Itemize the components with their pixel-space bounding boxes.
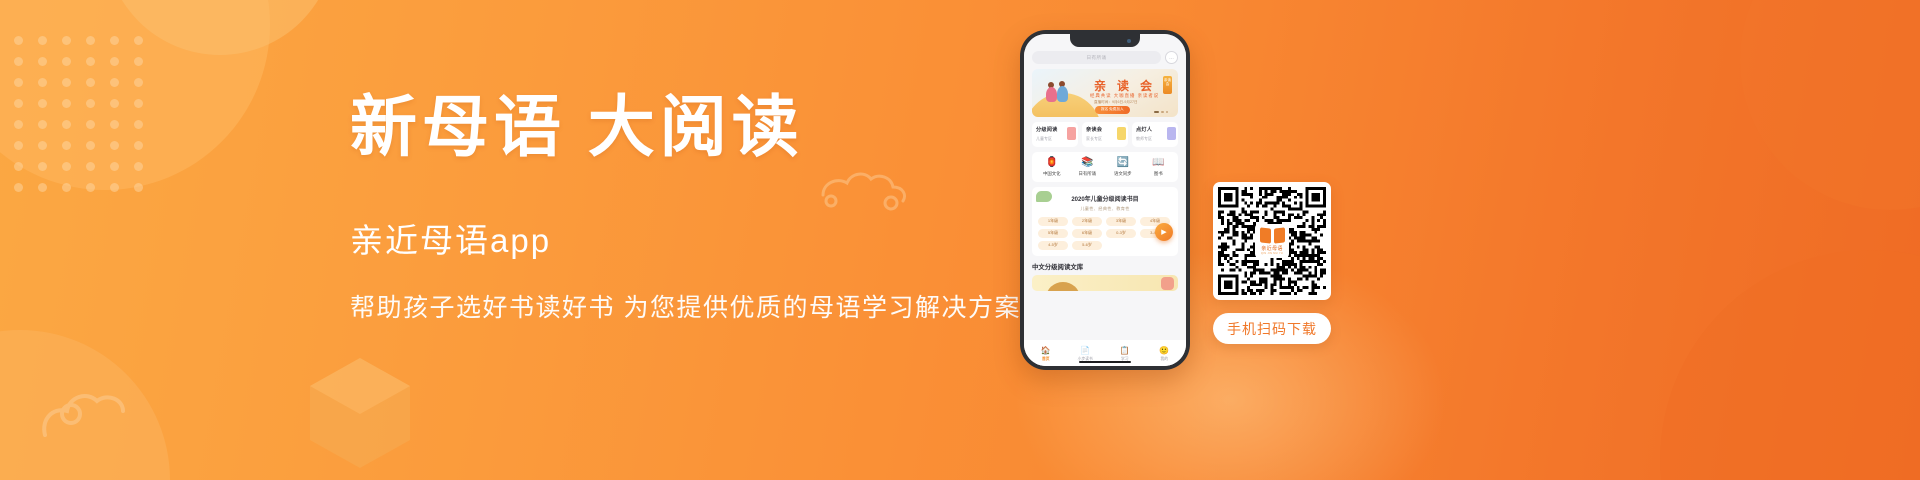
hero-subtitle: 经典共读 大咖直播 亲读者说 bbox=[1090, 93, 1159, 99]
decor-dot bbox=[110, 99, 119, 108]
open-book-icon bbox=[1260, 228, 1285, 243]
decor-dot bbox=[110, 120, 119, 129]
decor-dot bbox=[134, 36, 143, 45]
hero-child-1 bbox=[1046, 87, 1057, 102]
page-title: 新母语 大阅读 bbox=[350, 95, 1010, 162]
tab-icon: 🙂 bbox=[1145, 347, 1185, 355]
decor-dot bbox=[134, 78, 143, 87]
decor-dot-grid bbox=[14, 36, 164, 196]
decor-dot bbox=[38, 120, 47, 129]
promo-banner: 新母语 大阅读 亲近母语app 帮助孩子选好书读好书 为您提供优质的母语学习解决… bbox=[0, 0, 1920, 480]
decor-dot bbox=[110, 57, 119, 66]
phone-mockup: 日有所诵 … 亲 读 会 亲读会 经典共读 大咖直播 亲读者说 直播时间：9月6… bbox=[1020, 30, 1190, 370]
grade-tag[interactable]: 4-5岁 bbox=[1038, 241, 1068, 250]
decor-dot bbox=[86, 99, 95, 108]
decor-dot bbox=[62, 78, 71, 87]
decor-cloud-swirl-bottom-left bbox=[35, 340, 185, 450]
decor-circle-top-left bbox=[0, 0, 270, 190]
app-feature-china-culture-icon[interactable]: 🏮中国文化 bbox=[1034, 158, 1070, 177]
decor-dot bbox=[14, 57, 23, 66]
decor-dot bbox=[134, 141, 143, 150]
decor-dot bbox=[62, 141, 71, 150]
decor-dot bbox=[62, 57, 71, 66]
feature-label: 语文同步 bbox=[1105, 171, 1141, 177]
app-icon-row: 🏮中国文化📚日有所诵🔄语文同步📖图书 bbox=[1032, 152, 1178, 182]
decor-dot bbox=[134, 183, 143, 192]
phone-notch bbox=[1070, 34, 1140, 47]
daily-recite-icon: 📚 bbox=[1070, 158, 1106, 168]
decor-dot bbox=[62, 36, 71, 45]
decor-dot bbox=[86, 36, 95, 45]
tab-label: 我的 bbox=[1145, 357, 1185, 362]
decor-dot bbox=[110, 78, 119, 87]
decor-dot bbox=[86, 141, 95, 150]
decor-dot bbox=[38, 162, 47, 171]
hero-side-tag: 亲读会 bbox=[1163, 76, 1172, 94]
qr-logo-en: QIN JIN MU YU bbox=[1261, 252, 1283, 255]
category-card[interactable]: 点灯人教师专区 bbox=[1132, 122, 1178, 147]
decor-dot bbox=[14, 183, 23, 192]
app-hero-banner[interactable]: 亲 读 会 亲读会 经典共读 大咖直播 亲读者说 直播时间：9月6日-9月27日… bbox=[1032, 69, 1178, 117]
search-input[interactable]: 日有所诵 bbox=[1032, 51, 1161, 64]
front-camera-icon bbox=[1127, 39, 1131, 43]
decor-dot bbox=[14, 162, 23, 171]
decor-dot bbox=[86, 78, 95, 87]
decor-dot bbox=[38, 183, 47, 192]
decor-dot bbox=[134, 120, 143, 129]
qr-card: 亲近母语 QIN JIN MU YU bbox=[1213, 182, 1331, 300]
qr-center-logo: 亲近母语 QIN JIN MU YU bbox=[1255, 224, 1289, 258]
app-feature-daily-recite-icon[interactable]: 📚日有所诵 bbox=[1070, 158, 1106, 177]
decor-dot bbox=[110, 162, 119, 171]
decor-dot bbox=[62, 183, 71, 192]
app-search-row: 日有所诵 … bbox=[1032, 51, 1178, 64]
app-booklist-card[interactable]: 2020年儿童分级阅读书目 儿童性、经典性、教育性 1年级2年级3年级4年级5年… bbox=[1032, 187, 1178, 256]
decor-circle-bottom-right bbox=[1660, 250, 1920, 480]
decor-dot bbox=[14, 99, 23, 108]
card-decor bbox=[1067, 127, 1076, 140]
qr-code[interactable]: 亲近母语 QIN JIN MU YU bbox=[1218, 187, 1326, 295]
booklist-title: 2020年儿童分级阅读书目 bbox=[1038, 194, 1172, 203]
app-category-cards: 分级阅读儿童专区亲读会家长专区点灯人教师专区 bbox=[1032, 122, 1178, 147]
decor-dot bbox=[134, 57, 143, 66]
section-card-shape bbox=[1046, 282, 1080, 291]
tab-icon: 📋 bbox=[1105, 347, 1145, 355]
app-name: 亲近母语app bbox=[350, 214, 1010, 262]
decor-circle-bottom-left bbox=[0, 330, 170, 480]
section-card[interactable] bbox=[1032, 275, 1178, 291]
grade-tag[interactable]: 6年级 bbox=[1072, 229, 1102, 238]
hero-date: 直播时间：9月6日-9月27日 bbox=[1094, 100, 1138, 105]
decor-dot bbox=[110, 141, 119, 150]
category-card[interactable]: 分级阅读儿童专区 bbox=[1032, 122, 1078, 147]
banner-copy: 新母语 大阅读 亲近母语app 帮助孩子选好书读好书 为您提供优质的母语学习解决… bbox=[350, 95, 1010, 324]
decor-dot bbox=[86, 183, 95, 192]
china-culture-icon: 🏮 bbox=[1034, 158, 1070, 168]
grade-tag[interactable]: 3年级 bbox=[1106, 217, 1136, 226]
tab-首页[interactable]: 🏠首页 bbox=[1026, 347, 1066, 362]
card-decor bbox=[1117, 127, 1126, 140]
decor-dot bbox=[14, 78, 23, 87]
books-icon: 📖 bbox=[1141, 158, 1177, 168]
video-play-button[interactable]: ▶ bbox=[1155, 223, 1173, 241]
download-button[interactable]: 手机扫码下载 bbox=[1213, 313, 1331, 344]
decor-dot bbox=[134, 162, 143, 171]
grade-tag-list: 1年级2年级3年级4年级5年级6年级0-3岁3-4岁4-5岁5-6岁 bbox=[1038, 217, 1172, 250]
hero-child-2 bbox=[1057, 86, 1068, 102]
decor-circle-top-left-2 bbox=[105, 0, 335, 55]
grade-tag[interactable]: 2年级 bbox=[1072, 217, 1102, 226]
card-decor bbox=[1167, 127, 1176, 140]
decor-dot bbox=[14, 36, 23, 45]
section-card-thumb bbox=[1161, 277, 1174, 290]
qr-logo-name: 亲近母语 bbox=[1261, 245, 1283, 252]
decor-dot bbox=[38, 36, 47, 45]
decor-dot bbox=[86, 120, 95, 129]
feature-label: 中国文化 bbox=[1034, 171, 1070, 177]
hero-join-button[interactable]: 报名 免费加入 bbox=[1095, 106, 1130, 114]
section-title: 中文分级阅读文库 bbox=[1032, 262, 1178, 271]
grade-tag[interactable]: 5-6岁 bbox=[1072, 241, 1102, 250]
decor-dot bbox=[134, 99, 143, 108]
decor-dot bbox=[86, 162, 95, 171]
decor-dot bbox=[62, 120, 71, 129]
hero-title: 亲 读 会 bbox=[1094, 77, 1156, 94]
grade-tag[interactable]: 5年级 bbox=[1038, 229, 1068, 238]
leaf-icon bbox=[1036, 191, 1052, 202]
decor-dot bbox=[38, 78, 47, 87]
decor-dot bbox=[14, 141, 23, 150]
feature-label: 日有所诵 bbox=[1070, 171, 1106, 177]
phone-screen: 日有所诵 … 亲 读 会 亲读会 经典共读 大咖直播 亲读者说 直播时间：9月6… bbox=[1024, 34, 1186, 366]
tab-我的[interactable]: 🙂我的 bbox=[1145, 347, 1185, 362]
tab-icon: 🏠 bbox=[1026, 347, 1066, 355]
decor-dot bbox=[38, 57, 47, 66]
decor-dot bbox=[110, 183, 119, 192]
decor-cube bbox=[305, 348, 415, 468]
app-feature-chinese-sync-icon[interactable]: 🔄语文同步 bbox=[1105, 158, 1141, 177]
decor-dot bbox=[38, 141, 47, 150]
qr-download-block: 亲近母语 QIN JIN MU YU 手机扫码下载 bbox=[1213, 182, 1331, 344]
decor-dot bbox=[38, 99, 47, 108]
app-feature-books-icon[interactable]: 📖图书 bbox=[1141, 158, 1177, 177]
decor-dot bbox=[110, 36, 119, 45]
grade-tag[interactable]: 1年级 bbox=[1038, 217, 1068, 226]
decor-dot bbox=[62, 162, 71, 171]
booklist-subtitle: 儿童性、经典性、教育性 bbox=[1038, 206, 1172, 212]
carousel-dots[interactable] bbox=[1154, 111, 1168, 113]
message-icon[interactable]: … bbox=[1165, 51, 1178, 64]
decor-dot bbox=[62, 99, 71, 108]
chinese-sync-icon: 🔄 bbox=[1105, 158, 1141, 168]
grade-tag[interactable]: 0-3岁 bbox=[1106, 229, 1136, 238]
category-card[interactable]: 亲读会家长专区 bbox=[1082, 122, 1128, 147]
feature-label: 图书 bbox=[1141, 171, 1177, 177]
banner-tagline: 帮助孩子选好书读好书 为您提供优质的母语学习解决方案 bbox=[350, 288, 1010, 324]
tab-icon: 📄 bbox=[1066, 347, 1106, 355]
decor-dot bbox=[86, 57, 95, 66]
decor-circle-top-right bbox=[1740, 0, 1920, 210]
app-ui: 日有所诵 … 亲 读 会 亲读会 经典共读 大咖直播 亲读者说 直播时间：9月6… bbox=[1024, 34, 1186, 366]
decor-dot bbox=[14, 120, 23, 129]
tab-label: 首页 bbox=[1026, 357, 1066, 362]
